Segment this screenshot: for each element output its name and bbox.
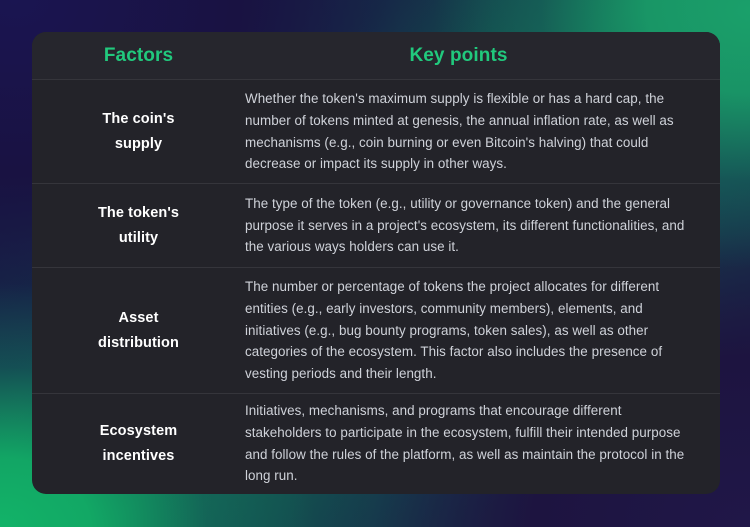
factor-label-line1: Ecosystem [46, 419, 231, 444]
factor-cell: The token's utility [32, 201, 245, 251]
header-cell-key-points: Key points [245, 45, 720, 67]
table-row: Asset distribution The number or percent… [32, 267, 720, 393]
key-points-text: Initiatives, mechanisms, and programs th… [245, 400, 698, 487]
factor-cell: Ecosystem incentives [32, 419, 245, 469]
factor-label-line1: The token's [46, 201, 231, 226]
key-points-cell: Whether the token's maximum supply is fl… [245, 88, 720, 175]
factor-label-line2: supply [46, 132, 231, 157]
factor-label-line2: distribution [46, 331, 231, 356]
factor-label-line2: incentives [46, 444, 231, 469]
table-row: The token's utility The type of the toke… [32, 183, 720, 267]
key-points-cell: The type of the token (e.g., utility or … [245, 193, 720, 258]
factor-label-line1: The coin's [46, 107, 231, 132]
key-points-cell: Initiatives, mechanisms, and programs th… [245, 400, 720, 487]
table-row: Ecosystem incentives Initiatives, mechan… [32, 393, 720, 493]
table-row: The coin's supply Whether the token's ma… [32, 79, 720, 183]
column-header-factors: Factors [104, 45, 173, 66]
header-cell-factors: Factors [32, 45, 245, 67]
factor-cell: The coin's supply [32, 107, 245, 157]
key-points-text: Whether the token's maximum supply is fl… [245, 88, 698, 175]
key-points-cell: The number or percentage of tokens the p… [245, 276, 720, 385]
tokenomics-factors-table: Factors Key points The coin's supply Whe… [32, 32, 720, 494]
factor-label-line1: Asset [46, 306, 231, 331]
column-header-key-points: Key points [409, 45, 507, 66]
key-points-text: The type of the token (e.g., utility or … [245, 193, 698, 258]
factor-cell: Asset distribution [32, 306, 245, 356]
factor-label-line2: utility [46, 226, 231, 251]
table-header-row: Factors Key points [32, 32, 720, 79]
key-points-text: The number or percentage of tokens the p… [245, 276, 698, 385]
